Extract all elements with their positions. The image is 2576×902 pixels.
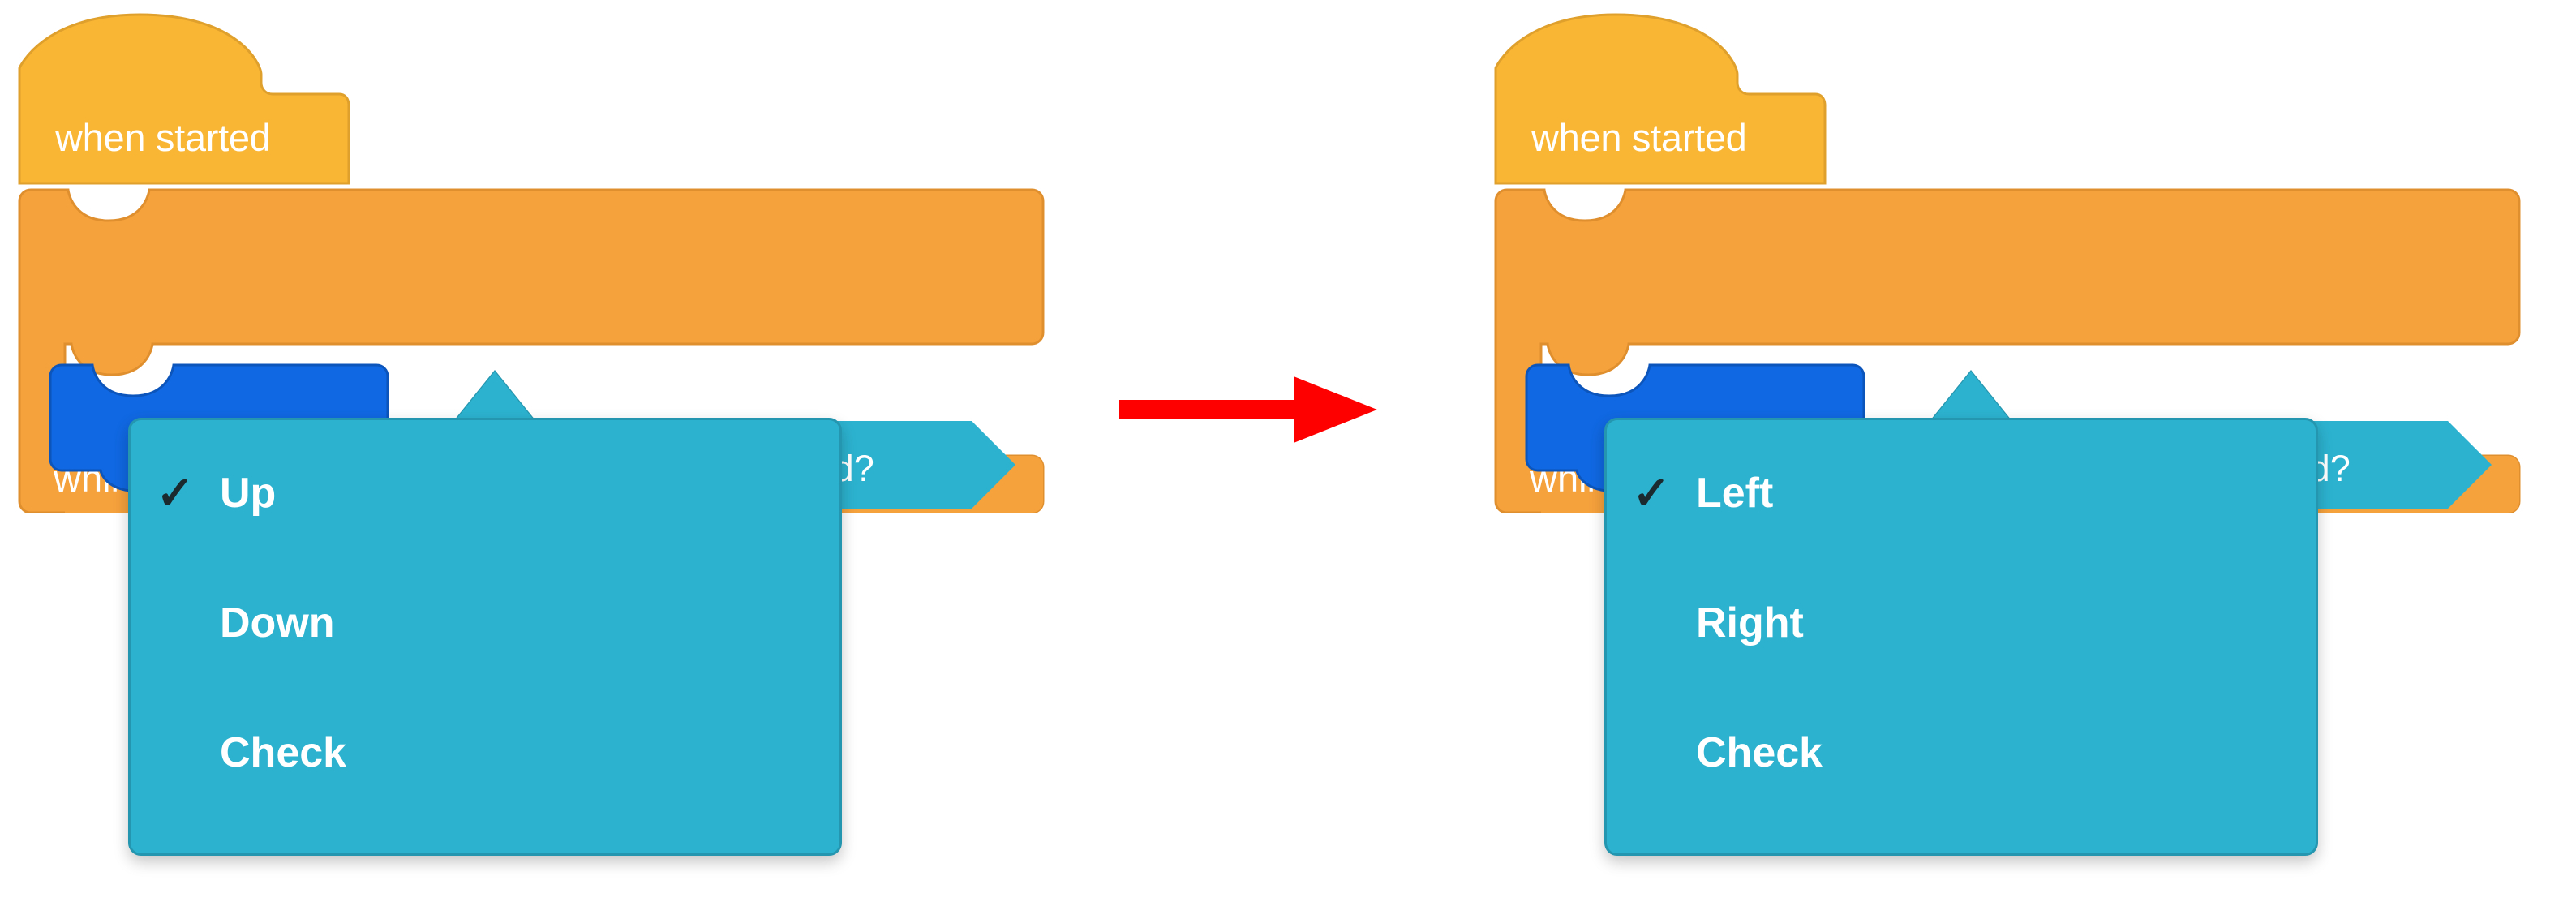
script-panel-before: when started while Brain — [8, 0, 1079, 902]
dropdown-option-0[interactable]: ✓ Up — [131, 436, 839, 550]
dropdown-pointer — [1930, 372, 2011, 422]
dropdown-option-1[interactable]: ✓ Down — [131, 566, 839, 680]
brain-button-dropdown-menu[interactable]: ✓ Up ✓ Down ✓ Check — [128, 418, 842, 856]
script-panel-after: when started while Brain Left bu — [1484, 0, 2555, 902]
transition-arrow-icon — [1119, 373, 1379, 446]
dropdown-option-label: Up — [220, 469, 276, 518]
when-started-block[interactable]: when started — [1494, 11, 1827, 190]
dropdown-option-label: Left — [1696, 469, 1773, 518]
dropdown-option-label: Check — [220, 728, 346, 777]
block-editor-canvas: when started while Brain — [0, 0, 2576, 902]
dropdown-option-1[interactable]: ✓ Right — [1607, 566, 2316, 680]
when-started-block[interactable]: when started — [18, 11, 350, 190]
dropdown-option-label: Down — [220, 599, 335, 647]
checkmark-icon: ✓ — [1607, 470, 1696, 516]
brain-button-dropdown-menu[interactable]: ✓ Left ✓ Right ✓ Check — [1604, 418, 2318, 856]
dropdown-option-0[interactable]: ✓ Left — [1607, 436, 2316, 550]
dropdown-option-2[interactable]: ✓ Check — [131, 696, 839, 810]
dropdown-option-label: Right — [1696, 599, 1804, 647]
when-started-label: when started — [55, 115, 271, 160]
dropdown-option-2[interactable]: ✓ Check — [1607, 696, 2316, 810]
dropdown-pointer — [454, 372, 535, 422]
dropdown-option-label: Check — [1696, 728, 1823, 777]
when-started-label: when started — [1531, 115, 1747, 160]
checkmark-icon: ✓ — [131, 470, 220, 516]
